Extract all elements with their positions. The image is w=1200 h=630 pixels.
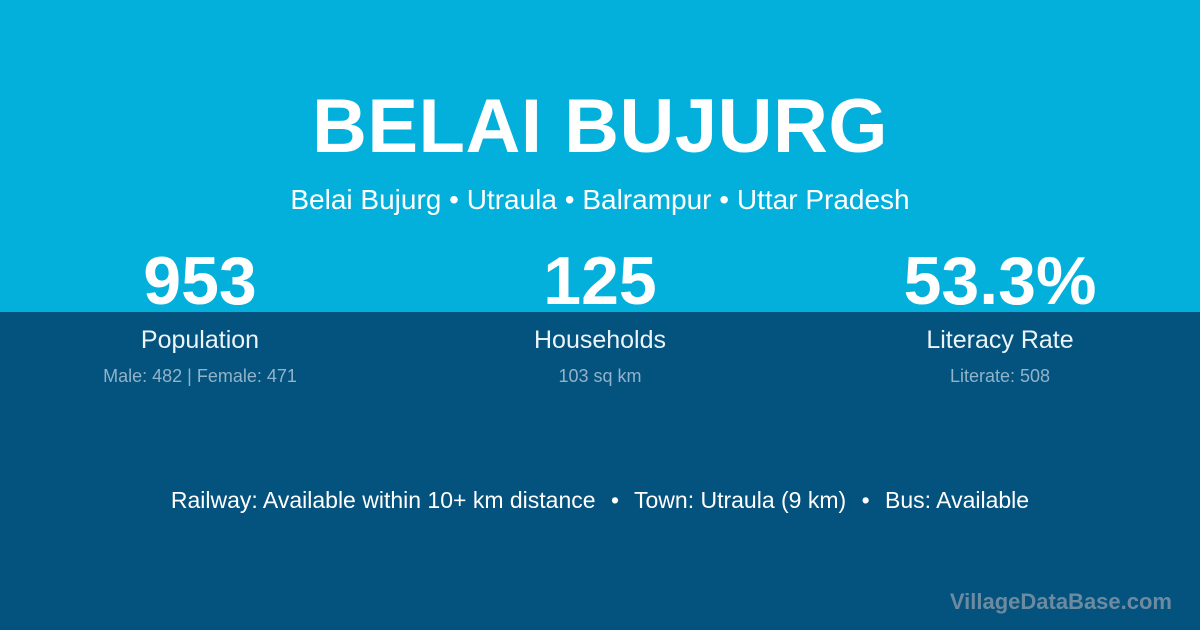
bullet-separator-icon: • bbox=[853, 485, 879, 515]
village-data-card: BELAI BUJURG Belai Bujurg • Utraula • Ba… bbox=[0, 0, 1200, 630]
stat-sublabel: Literate: 508 bbox=[800, 365, 1200, 387]
bullet-separator-icon: • bbox=[602, 485, 628, 515]
stat-label: Population bbox=[0, 326, 400, 354]
bus-info: Bus: Available bbox=[885, 487, 1029, 513]
stat-households: 125 Households 103 sq km bbox=[400, 248, 800, 387]
stat-label: Households bbox=[400, 326, 800, 354]
stat-value: 53.3% bbox=[800, 248, 1200, 314]
stat-sublabel: Male: 482 | Female: 471 bbox=[0, 365, 400, 387]
page-title: BELAI BUJURG bbox=[0, 82, 1200, 172]
connectivity-row: Railway: Available within 10+ km distanc… bbox=[0, 485, 1200, 515]
breadcrumb: Belai Bujurg • Utraula • Balrampur • Utt… bbox=[0, 182, 1200, 218]
stat-sublabel: 103 sq km bbox=[400, 365, 800, 387]
stat-value: 953 bbox=[0, 248, 400, 314]
town-info: Town: Utraula (9 km) bbox=[634, 487, 846, 513]
stat-label: Literacy Rate bbox=[800, 326, 1200, 354]
stats-row: 953 Population Male: 482 | Female: 471 1… bbox=[0, 248, 1200, 387]
stat-population: 953 Population Male: 482 | Female: 471 bbox=[0, 248, 400, 387]
brand-watermark: VillageDataBase.com bbox=[950, 588, 1172, 616]
stat-literacy-rate: 53.3% Literacy Rate Literate: 508 bbox=[800, 248, 1200, 387]
railway-info: Railway: Available within 10+ km distanc… bbox=[171, 487, 596, 513]
stat-value: 125 bbox=[400, 248, 800, 314]
